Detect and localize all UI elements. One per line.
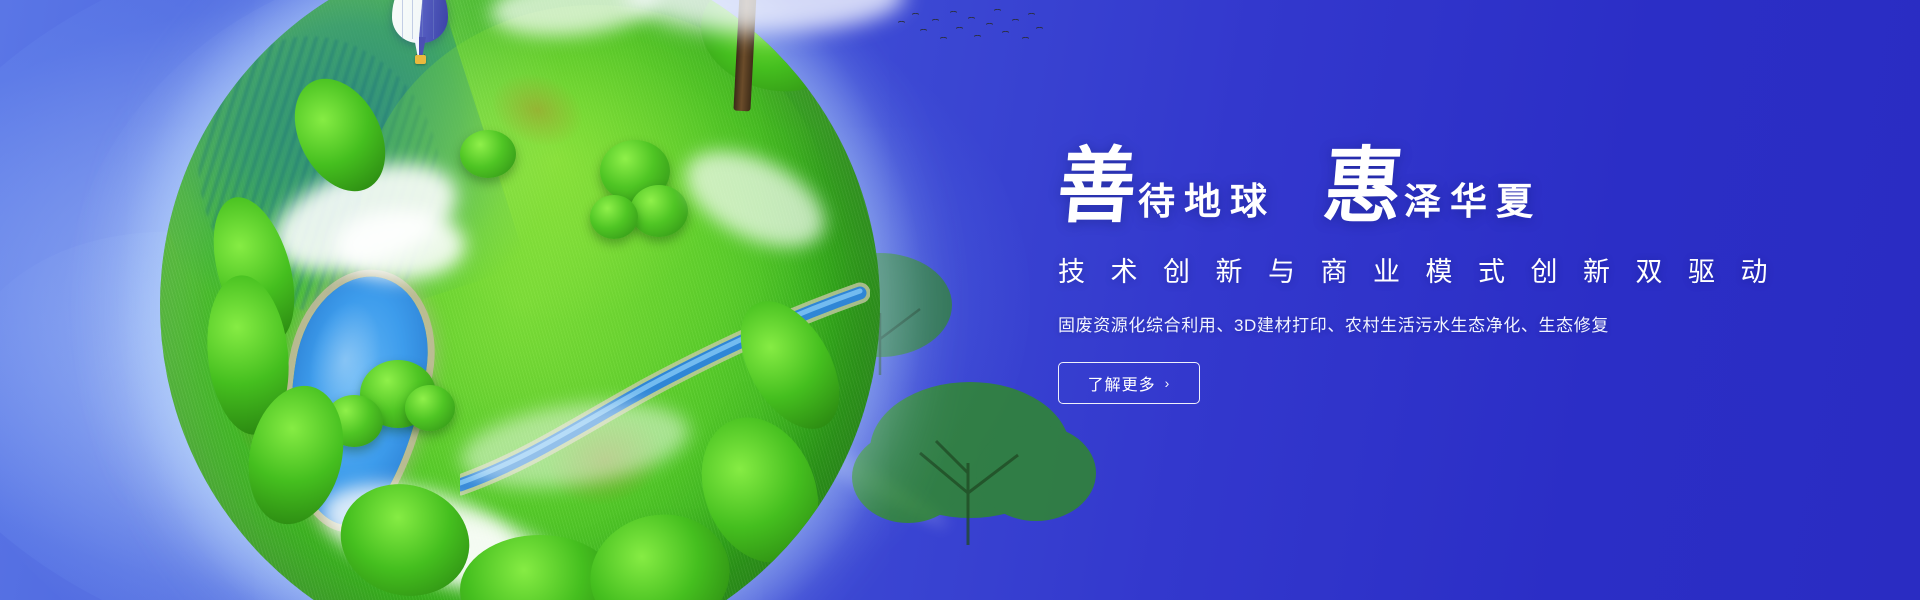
hero-content: 善 待地球 惠 泽华夏 技 术 创 新 与 商 业 模 式 创 新 双 驱 动 … [1058, 148, 1818, 404]
tree-mist [625, 0, 905, 33]
hot-air-balloon-icon [392, 0, 452, 80]
tree-cluster [405, 385, 455, 431]
hero-subtitle: 技 术 创 新 与 商 业 模 式 创 新 双 驱 动 [1058, 250, 1818, 289]
hero-description: 固废资源化综合利用、3D建材打印、农村生活污水生态净化、生态修复 [1058, 311, 1818, 336]
surface-cloud [335, 210, 465, 280]
top-tree [615, 0, 915, 135]
chevron-right-icon: › [1165, 376, 1171, 390]
tree-cluster [460, 130, 516, 178]
tree-cluster [630, 185, 688, 237]
learn-more-label: 了解更多 [1088, 371, 1156, 395]
balloon-neck [414, 37, 426, 55]
hero-banner: 善 待地球 惠 泽华夏 技 术 创 新 与 商 业 模 式 创 新 双 驱 动 … [0, 0, 1920, 600]
globe-illustration [160, 0, 880, 600]
balloon-envelope [392, 0, 448, 43]
bird-flock-icon [895, 7, 1045, 55]
balloon-basket [415, 55, 426, 64]
headline-text-2: 泽华夏 [1404, 183, 1542, 226]
learn-more-button[interactable]: 了解更多 › [1058, 362, 1200, 404]
tree-cluster [590, 195, 638, 239]
headline-char-primary-2: 惠 [1320, 146, 1407, 229]
hero-headline: 善 待地球 惠 泽华夏 [1058, 148, 1818, 226]
headline-text-1: 待地球 [1138, 183, 1276, 226]
headline-char-primary-1: 善 [1054, 146, 1141, 229]
